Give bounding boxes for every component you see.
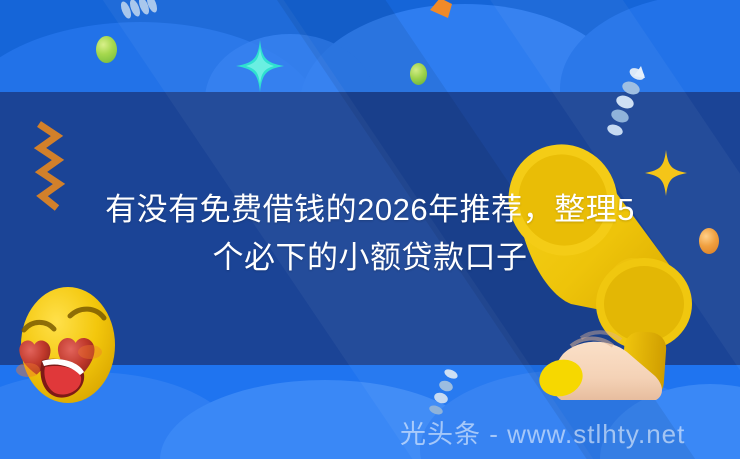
balloon-green-top-icon <box>410 63 427 85</box>
smiling-face-with-hearts-icon <box>8 282 128 408</box>
page-title: 有没有免费借钱的2026年推荐，整理5个必下的小额贷款口子 <box>0 186 740 282</box>
sparkle-cyan-icon <box>236 40 284 92</box>
ribbon-spiral-top-icon <box>118 0 158 28</box>
title-line-1: 有没有免费借钱的2026年推荐，整理5 <box>105 192 635 227</box>
ribbon-spiral-right-icon <box>598 62 650 146</box>
banner-canvas: 有没有免费借钱的2026年推荐，整理5个必下的小额贷款口子 光头条 - www.… <box>0 0 740 459</box>
confetti-orange-icon <box>428 0 454 20</box>
balloon-green-left-icon <box>96 36 117 63</box>
watermark: 光头条 - www.stlhty.net <box>400 414 685 451</box>
title-line-2: 个必下的小额贷款口子 <box>213 240 528 275</box>
